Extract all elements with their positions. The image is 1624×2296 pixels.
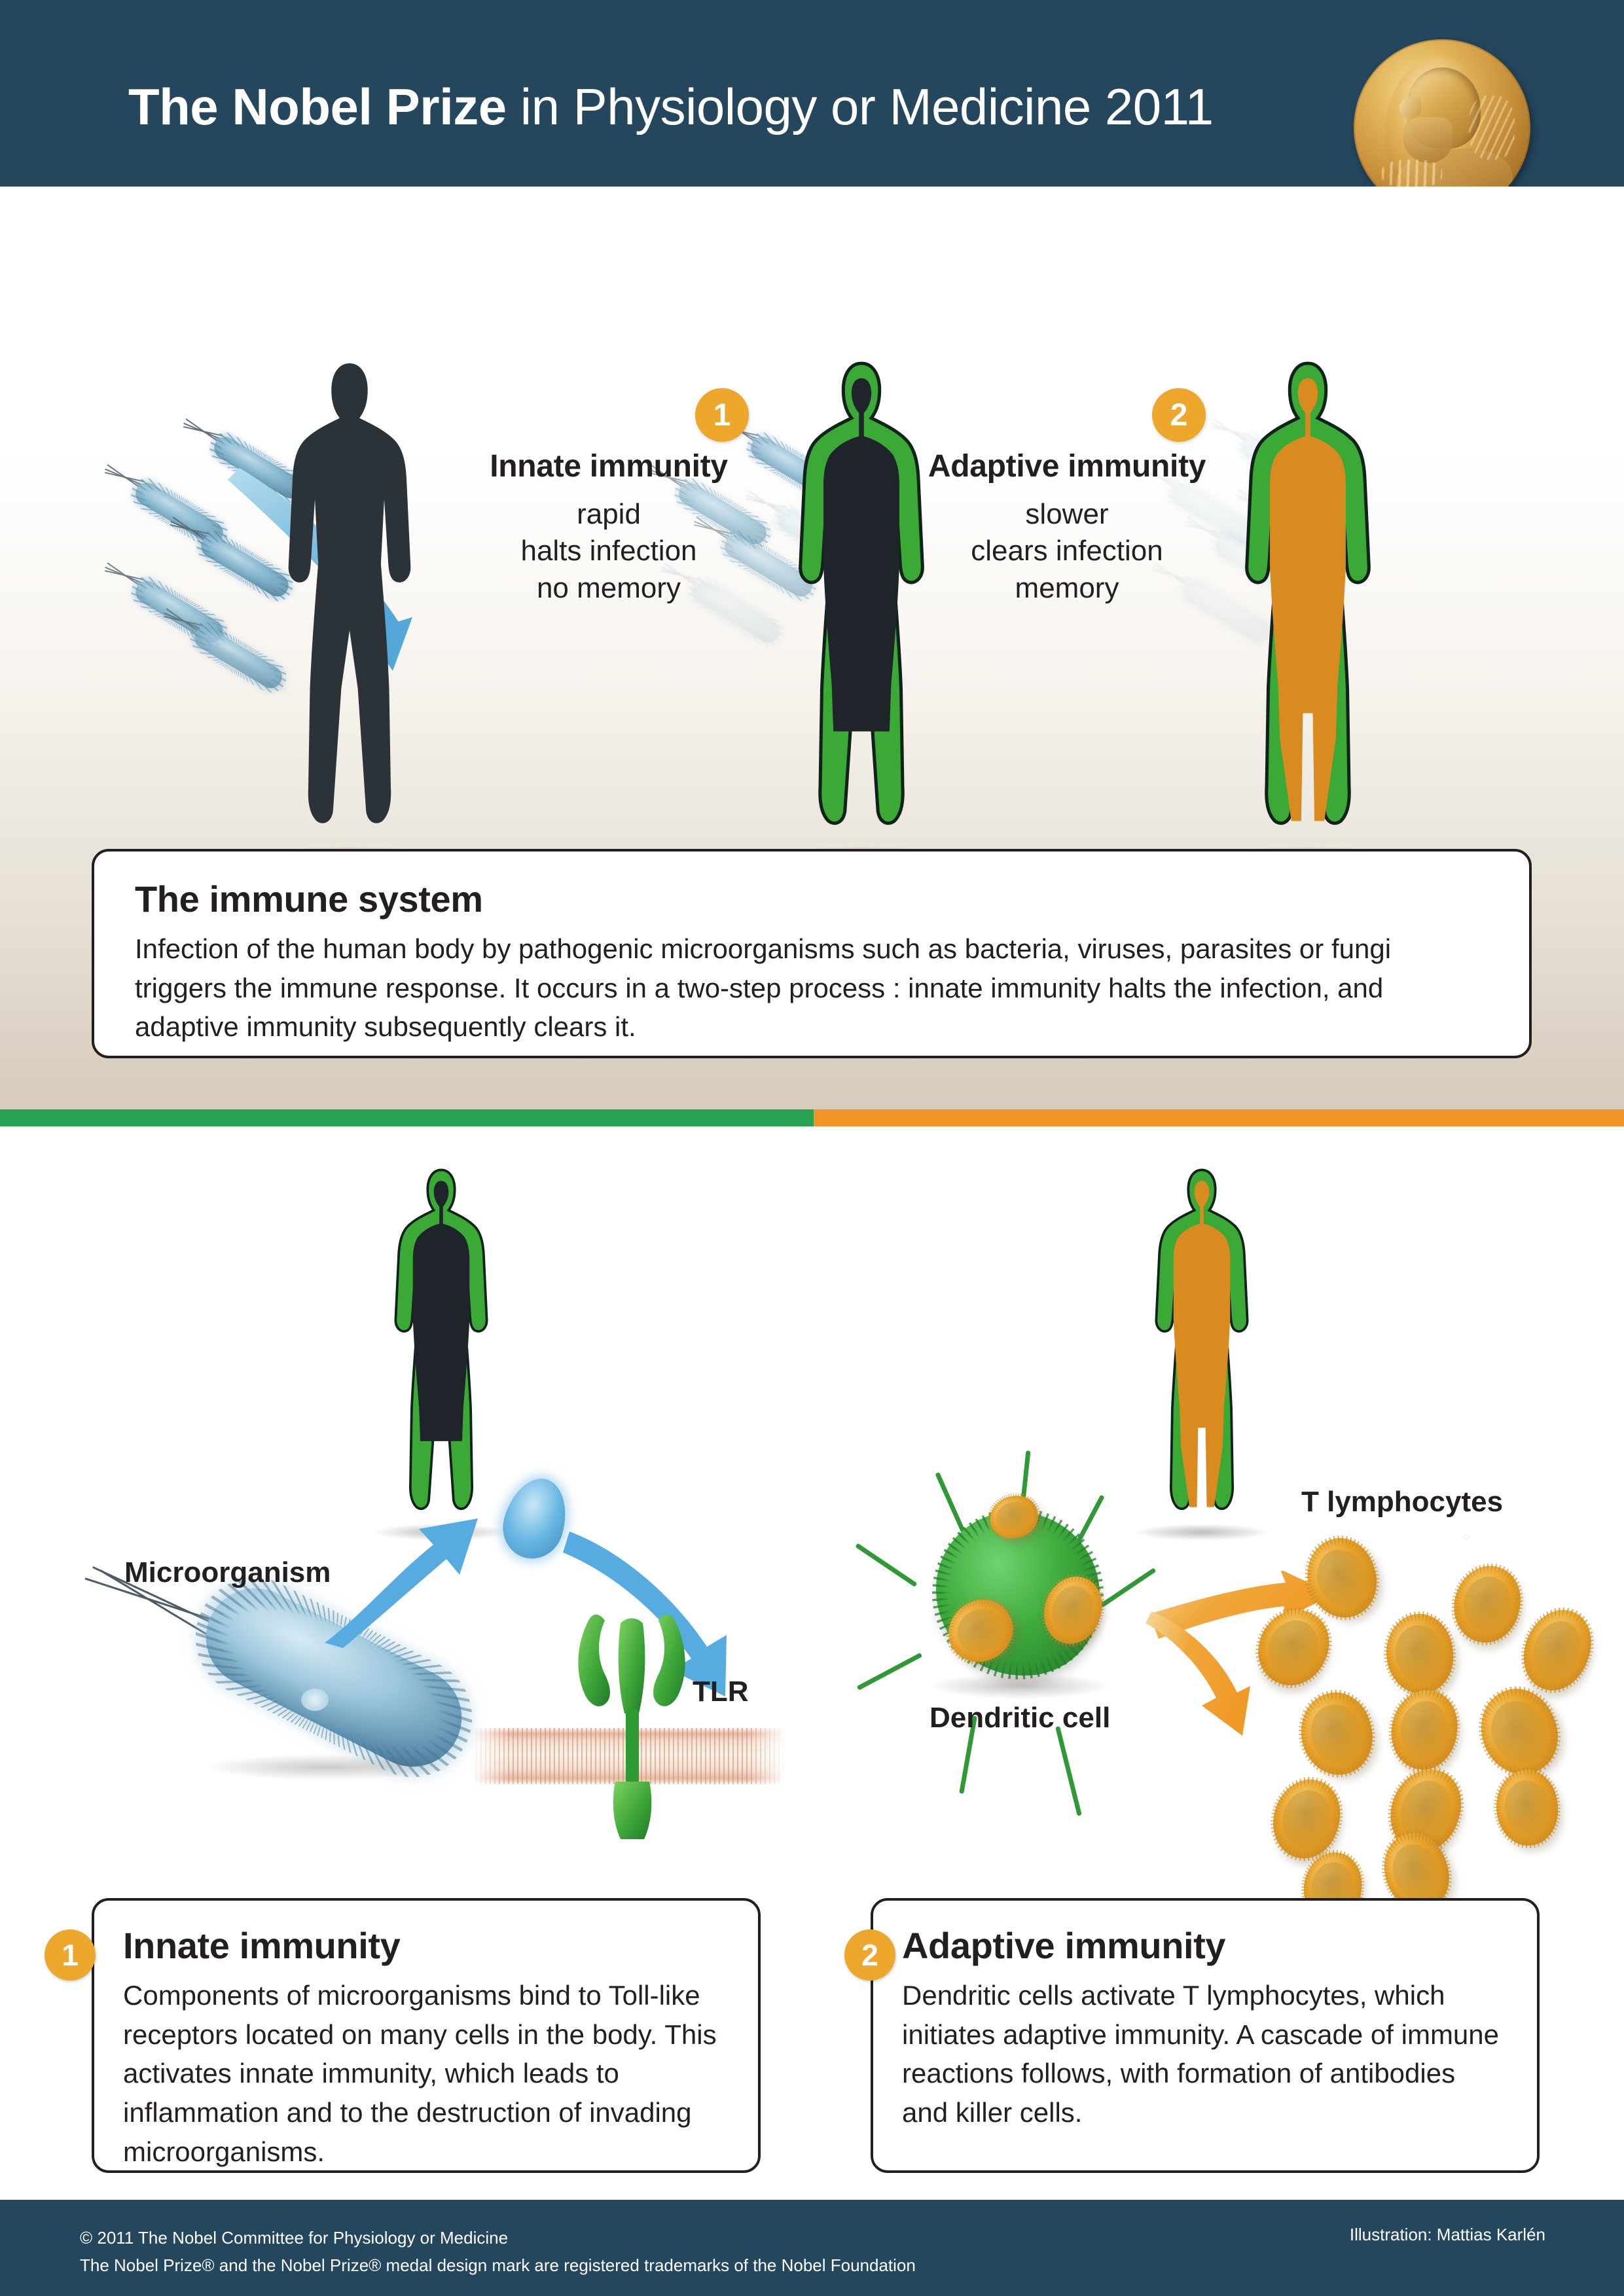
- innate-immunity-heading: Innate immunity: [458, 448, 759, 484]
- page-title: The Nobel Prize in Physiology or Medicin…: [128, 77, 1214, 137]
- footer-illustration-credit: Illustration: Mattias Karlén: [1350, 2225, 1545, 2245]
- bacterium-nucleoid: [301, 1689, 329, 1711]
- t-lymphocyte-cluster: [1270, 1525, 1610, 1918]
- dendritic-cell-label: Dendritic cell: [929, 1702, 1110, 1734]
- adaptive-immunity-heading: Adaptive immunity: [916, 448, 1218, 484]
- tlr-label: TLR: [693, 1676, 749, 1708]
- footer-copyright-line-1: © 2011 The Nobel Committee for Physiolog…: [80, 2225, 916, 2252]
- page-title-bold: The Nobel Prize: [128, 78, 507, 135]
- page-title-light: in Physiology or Medicine 2011: [507, 78, 1214, 135]
- t-lymphocyte: [1386, 1686, 1462, 1774]
- bacterium-shadow: [203, 1754, 452, 1780]
- tlr-receptor-icon: [556, 1604, 707, 1846]
- binding-arrow-up-icon: [321, 1499, 511, 1649]
- t-lymphocyte: [1447, 1560, 1527, 1649]
- innate-immunity-callout-title: Innate immunity: [123, 1924, 729, 1967]
- overview-panel: 1 2 Innate immunity rapid halts infectio…: [0, 187, 1624, 1109]
- divider-orange-half: [814, 1109, 1624, 1126]
- infographic-page: The Nobel Prize in Physiology or Medicin…: [0, 0, 1624, 2296]
- microorganism-label: Microorganism: [124, 1556, 331, 1589]
- human-figure-adaptive-small: [1140, 1165, 1263, 1532]
- t-lymphocyte: [1513, 1600, 1601, 1700]
- step-badge-1: 1: [695, 388, 749, 442]
- human-figure-infected: [267, 357, 432, 854]
- medal-inscription-name: [1382, 160, 1442, 188]
- adaptive-immunity-callout-body: Dendritic cells activate T lymphocytes, …: [902, 1976, 1508, 2132]
- footer-copyright-line-2: The Nobel Prize® and the Nobel Prize® me…: [80, 2252, 916, 2280]
- step-badge-2: 2: [1152, 388, 1206, 442]
- t-lymphocyte: [1492, 1767, 1562, 1848]
- adaptive-immunity-line-1: slower: [916, 496, 1218, 533]
- adaptive-immunity-callout-title: Adaptive immunity: [902, 1924, 1508, 1967]
- human-figure-innate-small: [380, 1165, 503, 1532]
- immune-system-body: Infection of the human body by pathogeni…: [135, 929, 1489, 1047]
- callout-badge-1: 1: [45, 1929, 96, 1981]
- dendritic-cell: [890, 1473, 1152, 1728]
- figure-shadow: [1133, 1524, 1271, 1541]
- divider-green-half: [0, 1109, 814, 1126]
- adaptive-immunity-callout: Adaptive immunity Dendritic cells activa…: [871, 1898, 1540, 2173]
- t-lymphocyte: [1381, 1609, 1458, 1698]
- section-divider-band: [0, 1109, 1624, 1126]
- medal-portrait-beard: [1403, 117, 1453, 163]
- t-lymphocyte: [1292, 1685, 1380, 1782]
- immune-system-callout: The immune system Infection of the human…: [92, 849, 1532, 1058]
- dendritic-cell-shadow: [928, 1673, 1111, 1699]
- innate-immunity-callout: Innate immunity Components of microorgan…: [92, 1898, 761, 2173]
- adaptive-immunity-line-3: memory: [916, 570, 1218, 607]
- dendrite: [935, 1472, 965, 1532]
- adaptive-immunity-summary: Adaptive immunity slower clears infectio…: [916, 448, 1218, 607]
- innate-immunity-line-3: no memory: [458, 570, 759, 607]
- footer-copyright: © 2011 The Nobel Committee for Physiolog…: [80, 2225, 916, 2279]
- innate-immunity-summary: Innate immunity rapid halts infection no…: [458, 448, 759, 607]
- t-lymphocytes-label: T lymphocytes: [1301, 1486, 1503, 1518]
- adaptive-immunity-line-2: clears infection: [916, 533, 1218, 569]
- innate-immunity-line-2: halts infection: [458, 533, 759, 569]
- immune-system-title: The immune system: [135, 878, 1489, 920]
- medal-portrait-nose: [1399, 98, 1420, 118]
- callout-badge-2: 2: [844, 1929, 895, 1981]
- page-footer: © 2011 The Nobel Committee for Physiolog…: [0, 2200, 1624, 2296]
- innate-immunity-line-1: rapid: [458, 496, 759, 533]
- human-figure-adaptive: [1225, 357, 1390, 854]
- medal-inscription-right: [1469, 96, 1515, 159]
- innate-immunity-callout-body: Components of microorganisms bind to Tol…: [123, 1976, 729, 2171]
